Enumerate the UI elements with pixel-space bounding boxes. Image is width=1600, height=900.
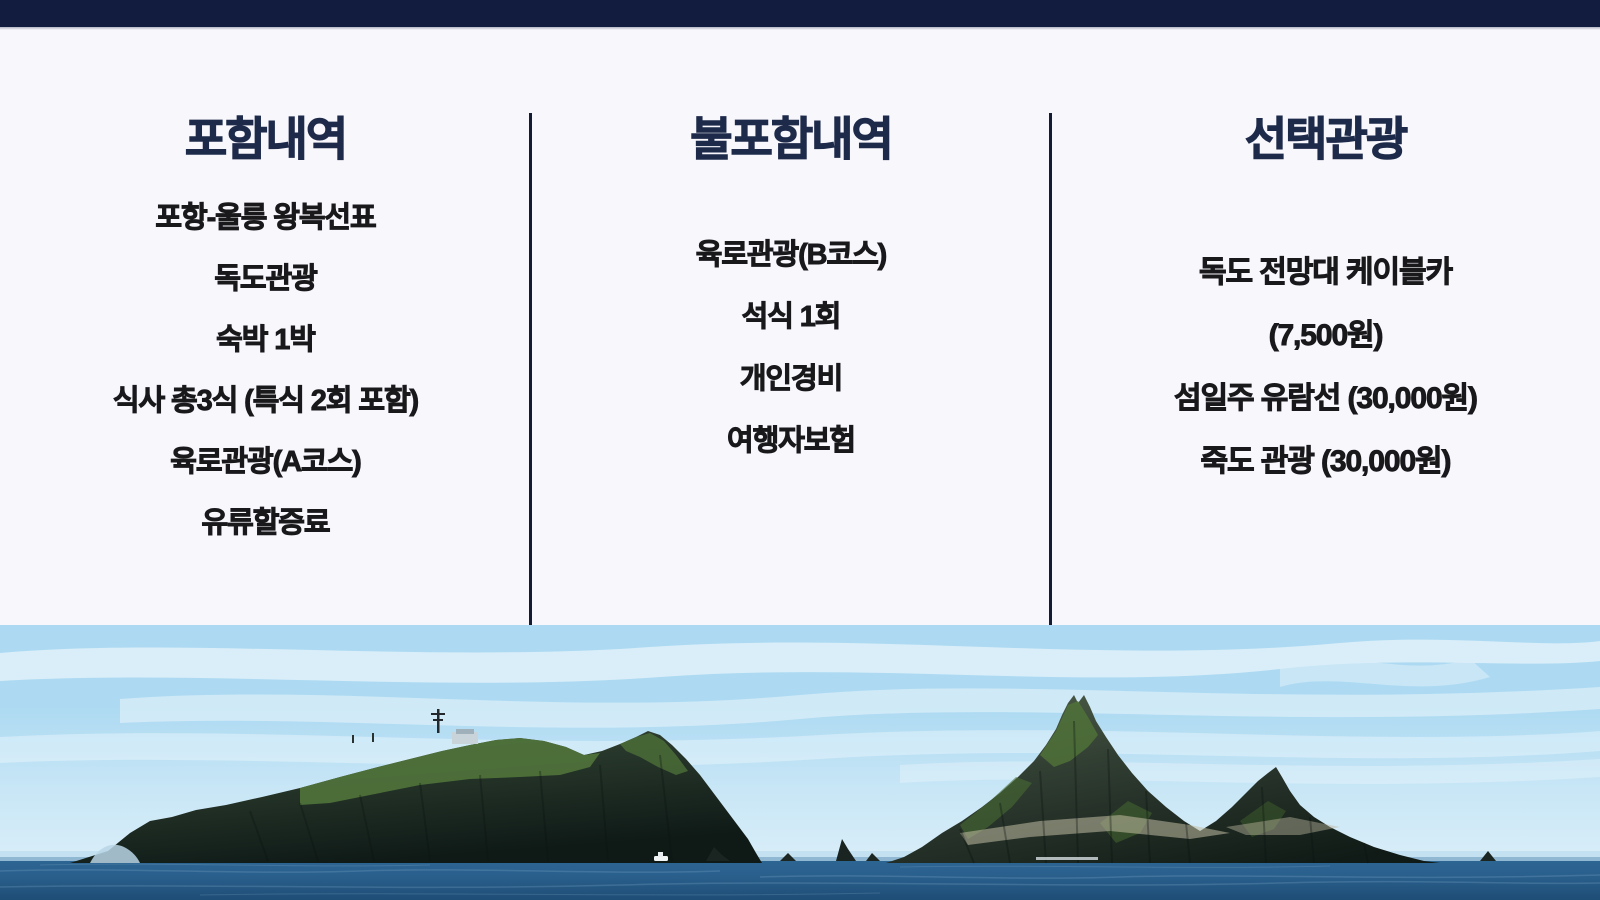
column-not-included: 불포함내역 육로관광(B코스) 석식 1회 개인경비 여행자보험	[531, 30, 1051, 625]
column-heading-included: 포함내역	[185, 116, 346, 162]
list-item: 포항-울릉 왕복선표	[155, 204, 375, 233]
list-item: 육로관광(B코스)	[696, 241, 886, 270]
list-item: 식사 총3식 (특식 2회 포함)	[113, 387, 418, 416]
list-item: (7,500원)	[1269, 321, 1383, 351]
list-item: 숙박 1박	[216, 326, 315, 355]
column-optional-tours: 선택관광 독도 전망대 케이블카 (7,500원) 섬일주 유람선 (30,00…	[1051, 30, 1600, 625]
column-items-not-included: 육로관광(B코스) 석식 1회 개인경비 여행자보험	[531, 241, 1051, 489]
list-item: 독도 전망대 케이블카	[1199, 258, 1452, 288]
dokdo-photo	[0, 625, 1600, 900]
list-item: 육로관광(A코스)	[170, 448, 360, 477]
list-item: 석식 1회	[742, 303, 841, 332]
list-item: 유류할증료	[202, 509, 330, 538]
list-item: 죽도 관광 (30,000원)	[1201, 447, 1451, 477]
list-item: 개인경비	[740, 365, 842, 394]
top-navy-bar	[0, 0, 1600, 27]
column-items-optional-tours: 독도 전망대 케이블카 (7,500원) 섬일주 유람선 (30,000원) 죽…	[1051, 258, 1600, 510]
list-item: 섬일주 유람선 (30,000원)	[1174, 384, 1477, 414]
list-item: 독도관광	[214, 265, 316, 294]
columns-container: 포함내역 포항-울릉 왕복선표 독도관광 숙박 1박 식사 총3식 (특식 2회…	[0, 30, 1600, 625]
page-root: 포함내역 포항-울릉 왕복선표 독도관광 숙박 1박 식사 총3식 (특식 2회…	[0, 0, 1600, 900]
column-heading-not-included: 불포함내역	[690, 116, 892, 162]
column-items-included: 포항-울릉 왕복선표 독도관광 숙박 1박 식사 총3식 (특식 2회 포함) …	[0, 204, 531, 570]
column-included: 포함내역 포항-울릉 왕복선표 독도관광 숙박 1박 식사 총3식 (특식 2회…	[0, 30, 531, 625]
island-photo-icon	[0, 625, 1600, 900]
info-region: 포함내역 포항-울릉 왕복선표 독도관광 숙박 1박 식사 총3식 (특식 2회…	[0, 30, 1600, 625]
column-heading-optional-tours: 선택관광	[1245, 116, 1406, 162]
list-item: 여행자보험	[727, 427, 855, 456]
